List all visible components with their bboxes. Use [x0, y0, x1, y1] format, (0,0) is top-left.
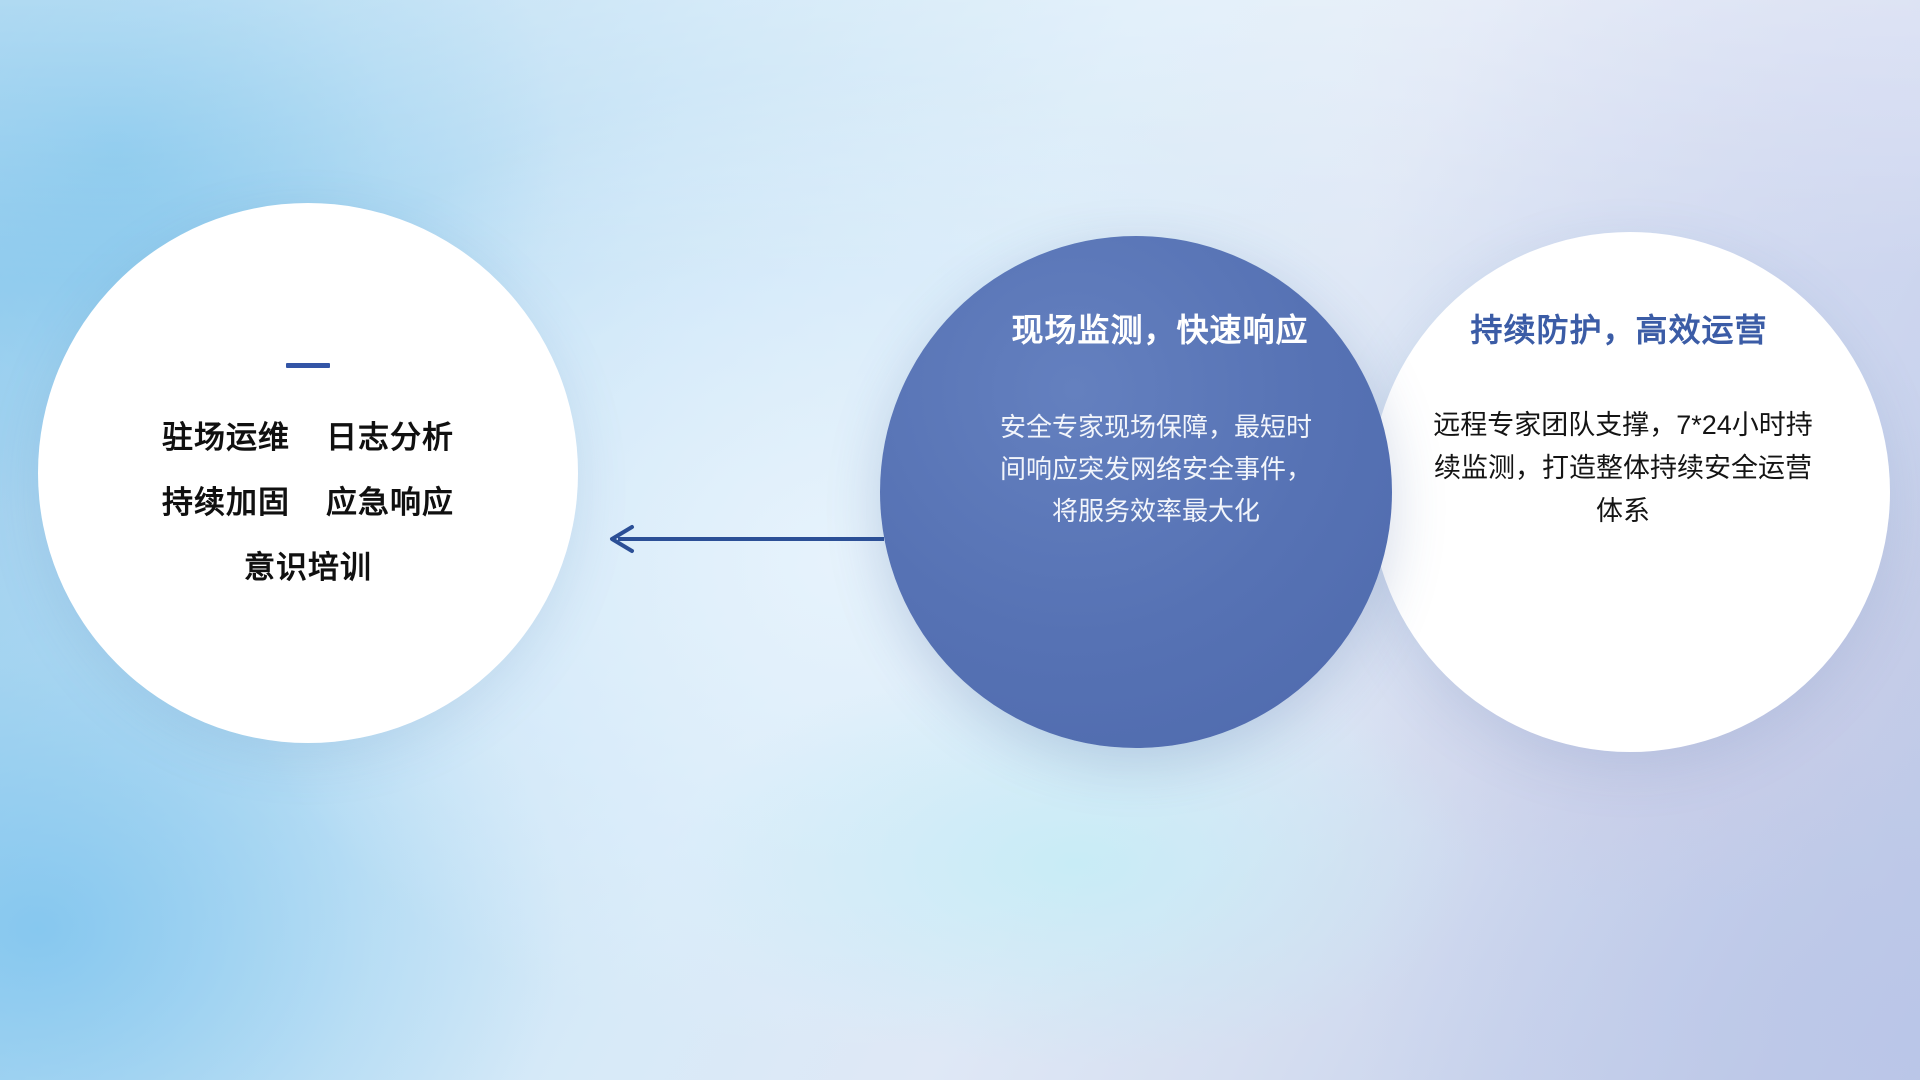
card-body: 远程专家团队支撑，7*24小时持续监测，打造整体持续安全运营体系	[1423, 404, 1823, 534]
keyword-item: 应急响应	[326, 487, 454, 518]
card-title: 现场监测，快速响应	[1011, 314, 1308, 346]
card-circle-continuous-protection: 持续防护，高效运营 远程专家团队支撑，7*24小时持续监测，打造整体持续安全运营…	[1370, 232, 1890, 752]
keyword-item: 驻场运维	[162, 422, 290, 453]
keywords-circle: 驻场运维 日志分析 持续加固 应急响应 意识培训	[38, 203, 578, 743]
keyword-item: 意识培训	[244, 552, 372, 583]
flow-arrow-left	[596, 518, 886, 560]
card-body: 安全专家现场保障，最短时间响应突发网络安全事件，将服务效率最大化	[991, 406, 1321, 532]
divider-dash	[286, 363, 330, 368]
card-title: 持续防护，高效运营	[1470, 314, 1767, 346]
keyword-row: 驻场运维 日志分析	[162, 422, 454, 453]
keyword-item: 日志分析	[326, 422, 454, 453]
keyword-row: 持续加固 应急响应	[162, 487, 454, 518]
slide-canvas: 驻场运维 日志分析 持续加固 应急响应 意识培训 持续防护，高效运营 远程专家团…	[0, 0, 1920, 1080]
keyword-row: 意识培训	[244, 552, 372, 583]
arrow-left-icon	[596, 518, 886, 560]
keyword-item: 持续加固	[162, 487, 290, 518]
card-circle-onsite-monitoring: 现场监测，快速响应 安全专家现场保障，最短时间响应突发网络安全事件，将服务效率最…	[880, 236, 1392, 748]
